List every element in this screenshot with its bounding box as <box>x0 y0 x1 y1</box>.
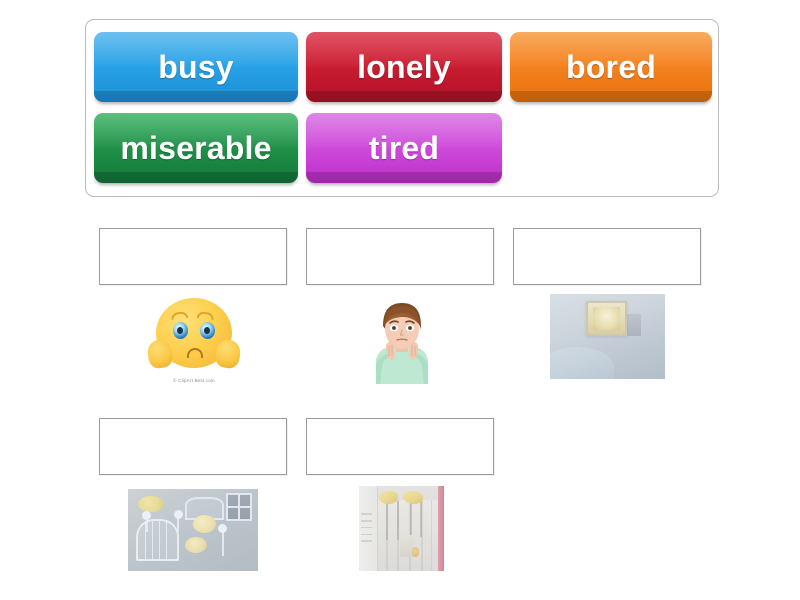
person-illustration-icon <box>362 296 442 384</box>
book-left-page <box>359 486 378 571</box>
book-red-edge <box>438 486 444 571</box>
illustration-window <box>226 493 252 521</box>
illustration-yellow-shape-3 <box>185 537 207 553</box>
illustration-knob-3 <box>218 524 227 533</box>
word-tile-label: tired <box>363 130 445 167</box>
word-tile-tired[interactable]: tired <box>306 113 502 183</box>
book-string-1 <box>386 501 388 540</box>
word-tile-lonely[interactable]: lonely <box>306 32 502 102</box>
drop-zone-1[interactable] <box>99 228 287 285</box>
drop-zone-5[interactable] <box>306 418 494 475</box>
activity-stage: busy lonely bored miserable tired <box>0 0 800 600</box>
word-tile-label: miserable <box>114 130 277 167</box>
emoji-hand-right-icon <box>214 338 242 369</box>
book-string-2 <box>397 501 399 540</box>
word-tile-bored[interactable]: bored <box>510 32 712 102</box>
emoji-pupil-right-icon <box>204 327 210 334</box>
word-tile-label: busy <box>152 49 240 86</box>
illustration-knob-2 <box>174 510 183 519</box>
drop-zone-2[interactable] <box>306 228 494 285</box>
book-string-4 <box>420 501 422 537</box>
bored-person-image <box>362 296 442 384</box>
emoji-pupil-left-icon <box>177 327 183 334</box>
word-tile-miserable[interactable]: miserable <box>94 113 298 183</box>
word-bank-row-1: busy lonely bored <box>86 32 718 112</box>
word-tile-label: lonely <box>351 49 457 86</box>
birdcage-illustration <box>128 489 258 571</box>
photo-picture-frame <box>586 301 627 337</box>
image-credit: © ClipArt Best.com <box>140 378 248 383</box>
word-bank-row-2: miserable tired <box>86 113 718 193</box>
drop-zone-4[interactable] <box>99 418 287 475</box>
window-mullion-horizontal <box>228 506 250 508</box>
word-tile-label: bored <box>560 49 662 86</box>
emoji-frown-icon <box>187 348 203 358</box>
book-string-3 <box>410 501 412 537</box>
book-page-photo <box>359 486 444 571</box>
illustration-birdcage <box>136 519 179 562</box>
book-orange-dot <box>412 547 420 556</box>
sad-emoji-image: © ClipArt Best.com <box>140 296 248 384</box>
word-bank: busy lonely bored miserable tired <box>85 19 719 197</box>
photo-frame-inner <box>593 307 620 330</box>
word-tile-busy[interactable]: busy <box>94 32 298 102</box>
illustration-yellow-shape-1 <box>138 496 164 512</box>
drop-zone-3[interactable] <box>513 228 701 285</box>
framed-picture-photo <box>550 294 665 379</box>
